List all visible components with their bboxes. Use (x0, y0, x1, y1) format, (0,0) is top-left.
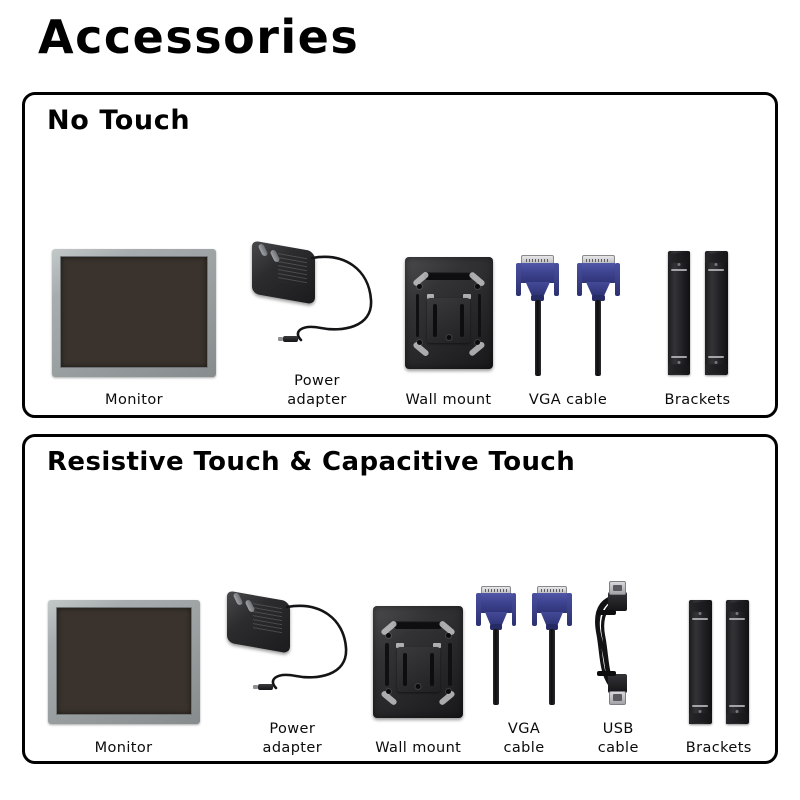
accessory-item-vga-cable[interactable]: VGA cable (506, 153, 630, 411)
accessory-item-monitor[interactable]: Monitor (25, 153, 243, 411)
vga-cable-icon (516, 250, 620, 376)
accessory-label-usb-cable: USB cable (598, 720, 639, 759)
accessory-label-brackets: Brackets (664, 391, 730, 411)
accessory-label-power-adapter: Power adapter (263, 720, 323, 759)
accessory-item-brackets[interactable]: Brackets (630, 153, 765, 411)
accessory-item-brackets[interactable]: Brackets (663, 501, 776, 759)
accessory-label-brackets: Brackets (686, 739, 752, 759)
accessory-label-vga-cable: VGA cable (504, 720, 545, 759)
wall-mount-icon (405, 257, 493, 369)
accessory-item-wall-mount[interactable]: Wall mount (391, 153, 506, 411)
page-title: Accessories (38, 14, 359, 60)
panel-no-touch: No Touch Monitor Power adapter (22, 92, 778, 418)
panel-resistive-capacitive-touch: Resistive Touch & Capacitive Touch Monit… (22, 434, 778, 764)
panel-title-resistive-capacitive-touch: Resistive Touch & Capacitive Touch (47, 447, 575, 477)
accessory-item-usb-cable[interactable]: USB cable (574, 501, 662, 759)
wall-mount-icon (373, 606, 463, 718)
accessory-label-vga-cable: VGA cable (529, 391, 607, 411)
monitor-icon (52, 249, 216, 377)
accessory-item-power-adapter[interactable]: Power adapter (222, 501, 362, 759)
vga-cable-icon (476, 581, 572, 705)
power-adapter-icon (249, 228, 385, 360)
accessory-label-wall-mount: Wall mount (375, 739, 461, 759)
panel-title-no-touch: No Touch (47, 105, 190, 136)
accessory-label-monitor: Monitor (95, 739, 153, 759)
accessory-item-power-adapter[interactable]: Power adapter (243, 153, 391, 411)
accessory-item-wall-mount[interactable]: Wall mount (363, 501, 475, 759)
accessory-label-monitor: Monitor (105, 391, 163, 411)
accessory-label-wall-mount: Wall mount (405, 391, 491, 411)
accessory-label-power-adapter: Power adapter (287, 372, 347, 411)
accessory-list-no-touch: Monitor Power adapter (25, 153, 775, 411)
accessory-item-vga-cable[interactable]: VGA cable (474, 501, 574, 759)
usb-cable-icon (586, 580, 650, 706)
brackets-icon (689, 600, 749, 724)
monitor-icon (48, 600, 200, 724)
accessory-item-monitor[interactable]: Monitor (25, 501, 222, 759)
brackets-icon (668, 251, 728, 375)
accessory-list-resistive-capacitive-touch: Monitor Power adapter (25, 501, 775, 759)
power-adapter-icon (224, 578, 360, 708)
